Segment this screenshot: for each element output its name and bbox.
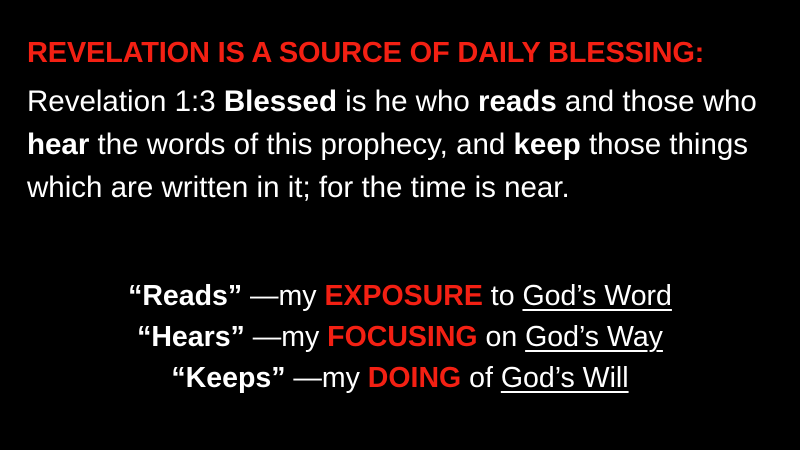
list-item: “Hears” —my FOCUSING on God’s Way [0, 317, 800, 358]
application-preposition-3: of [461, 362, 501, 394]
scripture-reference: Revelation 1:3 [27, 85, 216, 118]
presentation-slide: REVELATION IS A SOURCE OF DAILY BLESSING… [0, 0, 800, 450]
application-object-gods-will: God’s Will [501, 362, 629, 394]
application-my-1: my [279, 280, 325, 312]
application-action-focusing: FOCUSING [327, 321, 477, 353]
application-dash-3: — [293, 362, 322, 394]
page-title: REVELATION IS A SOURCE OF DAILY BLESSING… [27, 37, 773, 69]
application-dash-1: — [250, 280, 279, 312]
application-term-reads: “Reads” [128, 280, 242, 312]
application-action-doing: DOING [368, 362, 461, 394]
application-object-gods-way: God’s Way [525, 321, 663, 353]
scripture-emphasis-blessed: Blessed [224, 85, 337, 118]
application-term-hears: “Hears” [137, 321, 245, 353]
scripture-emphasis-reads: reads [478, 85, 557, 118]
scripture-text-2: is he who [337, 85, 478, 118]
scripture-emphasis-hear: hear [27, 128, 89, 161]
application-preposition-1: to [483, 280, 523, 312]
application-list: “Reads” —my EXPOSURE to God’s Word “Hear… [0, 276, 800, 399]
application-dash-2: — [253, 321, 282, 353]
scripture-text-3: and those who [557, 85, 757, 118]
application-my-3: my [322, 362, 368, 394]
application-action-exposure: EXPOSURE [324, 280, 482, 312]
application-term-keeps: “Keeps” [171, 362, 285, 394]
application-my-2: my [281, 321, 327, 353]
list-item: “Keeps” —my DOING of God’s Will [0, 358, 800, 399]
application-object-gods-word: God’s Word [522, 280, 671, 312]
scripture-paragraph: Revelation 1:3 Blessed is he who reads a… [27, 80, 787, 209]
scripture-text-1 [216, 85, 224, 118]
scripture-emphasis-keep: keep [514, 128, 581, 161]
list-item: “Reads” —my EXPOSURE to God’s Word [0, 276, 800, 317]
scripture-text-4: the words of this prophecy, and [89, 128, 513, 161]
application-preposition-2: on [478, 321, 526, 353]
